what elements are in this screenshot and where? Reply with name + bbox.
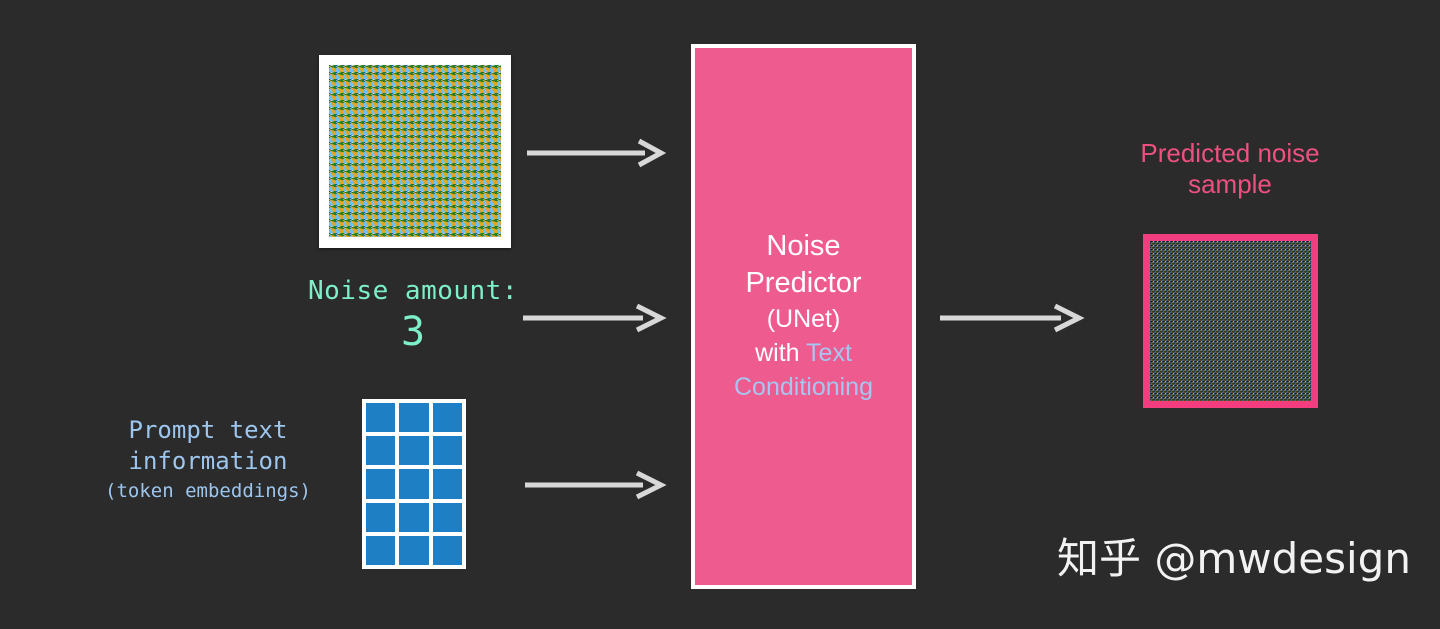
model-line-2: Predictor bbox=[734, 265, 873, 302]
predicted-noise-sample bbox=[1150, 241, 1311, 401]
arrow-image-to-model bbox=[527, 138, 667, 168]
diagram-canvas: Noise amount: 3 Prompt text information … bbox=[0, 0, 1440, 629]
token-cell bbox=[433, 536, 462, 565]
token-cell bbox=[433, 403, 462, 432]
prompt-text-line-1: Prompt text bbox=[62, 415, 354, 446]
token-embeddings-grid bbox=[362, 399, 466, 569]
token-cell bbox=[366, 436, 395, 465]
prompt-text-block: Prompt text information (token embedding… bbox=[62, 415, 354, 505]
token-cell bbox=[399, 536, 428, 565]
model-line-4-highlight: Text bbox=[806, 339, 852, 367]
arrow-model-to-output bbox=[940, 303, 1085, 333]
noisy-image-sample bbox=[329, 65, 501, 237]
noise-predictor-box: Noise Predictor (UNet) with Text Conditi… bbox=[691, 44, 916, 589]
model-line-3: (UNet) bbox=[734, 302, 873, 336]
prompt-text-line-3: (token embeddings) bbox=[62, 478, 354, 505]
arrow-embeddings-to-model bbox=[525, 470, 667, 500]
noise-predictor-text: Noise Predictor (UNet) with Text Conditi… bbox=[734, 228, 873, 406]
token-cell bbox=[366, 403, 395, 432]
predicted-noise-label-line-1: Predicted noise bbox=[1080, 138, 1380, 169]
prompt-text-line-2: information bbox=[62, 446, 354, 477]
token-cell bbox=[433, 469, 462, 498]
predicted-noise-label: Predicted noise sample bbox=[1080, 138, 1380, 200]
token-cell bbox=[399, 436, 428, 465]
model-line-4: with Text bbox=[734, 336, 873, 370]
token-cell bbox=[399, 469, 428, 498]
arrow-noise-amount-to-model bbox=[523, 303, 667, 333]
token-cell bbox=[399, 503, 428, 532]
noisy-image-sample-frame bbox=[319, 55, 511, 248]
predicted-noise-sample-frame bbox=[1143, 234, 1318, 408]
model-line-5: Conditioning bbox=[734, 370, 873, 404]
model-line-4-prefix: with bbox=[755, 339, 806, 367]
predicted-noise-label-line-2: sample bbox=[1080, 169, 1380, 200]
token-cell bbox=[433, 503, 462, 532]
token-cell bbox=[399, 403, 428, 432]
token-cell bbox=[366, 469, 395, 498]
token-cell bbox=[366, 503, 395, 532]
token-cell bbox=[366, 536, 395, 565]
token-cell bbox=[433, 436, 462, 465]
watermark: 知乎 @mwdesign bbox=[1057, 533, 1411, 585]
model-line-1: Noise bbox=[734, 228, 873, 265]
